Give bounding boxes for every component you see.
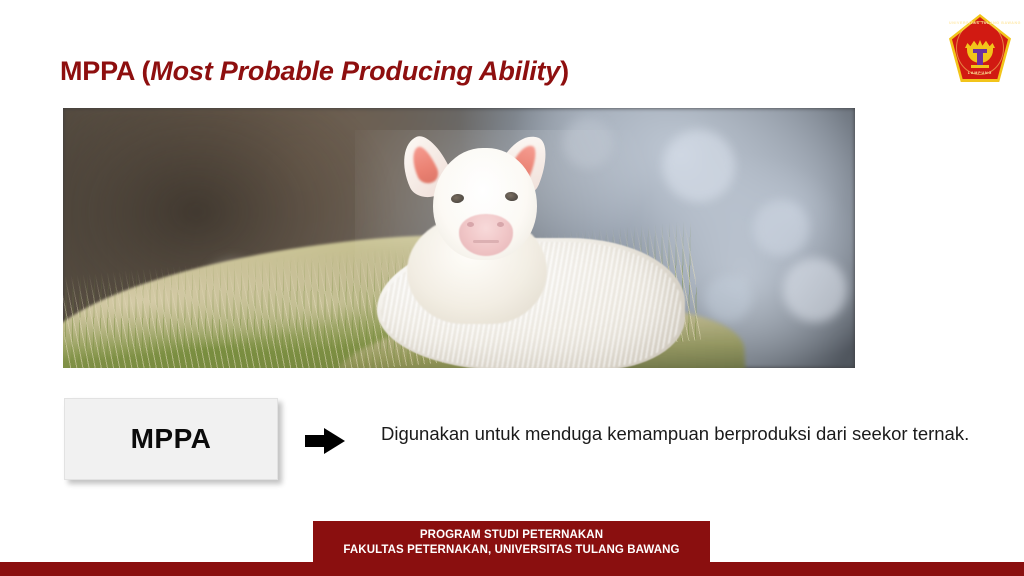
logo-trident-icon xyxy=(977,49,983,65)
page-title: MPPA (Most Probable Producing Ability) xyxy=(60,56,569,87)
lamb-nostril-left xyxy=(467,222,474,227)
footer-line-1: PROGRAM STUDI PETERNAKAN xyxy=(420,528,603,543)
lamb-photo xyxy=(63,108,855,368)
title-italic: Most Probable Producing Ability xyxy=(150,56,560,86)
logo-arc-text: UNIVERSITAS TULANG BAWANG xyxy=(949,21,1011,25)
mppa-definition-text: Digunakan untuk menduga kemampuan berpro… xyxy=(381,421,981,446)
lamb-ear-inner-left xyxy=(407,143,442,187)
logo-bottom-text: LAMPUNG xyxy=(949,71,1011,75)
footer-banner: PROGRAM STUDI PETERNAKAN FAKULTAS PETERN… xyxy=(313,521,710,565)
arrow-head xyxy=(324,428,345,454)
slide-canvas: UNIVERSITAS TULANG BAWANG LAMPUNG MPPA (… xyxy=(0,0,1024,576)
bokeh-circle xyxy=(783,258,847,322)
bokeh-circle xyxy=(705,276,751,322)
footer-line-2: FAKULTAS PETERNAKAN, UNIVERSITAS TULANG … xyxy=(343,543,679,558)
logo-emblem xyxy=(965,40,995,68)
mppa-term-box: MPPA xyxy=(64,398,278,480)
mppa-term-label: MPPA xyxy=(131,423,212,455)
lamb-illustration xyxy=(355,130,685,368)
logo-base-shape xyxy=(971,65,989,68)
footer-bottom-bar xyxy=(0,562,1024,576)
title-main: MPPA ( xyxy=(60,56,150,86)
university-logo: UNIVERSITAS TULANG BAWANG LAMPUNG xyxy=(949,14,1011,82)
lamb-nostril-right xyxy=(497,222,504,227)
right-arrow-icon xyxy=(305,428,345,454)
definition-sentence: Digunakan untuk menduga kemampuan berpro… xyxy=(381,423,969,444)
bokeh-circle xyxy=(753,200,809,256)
lamb-mouth xyxy=(473,240,499,243)
title-close: ) xyxy=(560,56,569,86)
